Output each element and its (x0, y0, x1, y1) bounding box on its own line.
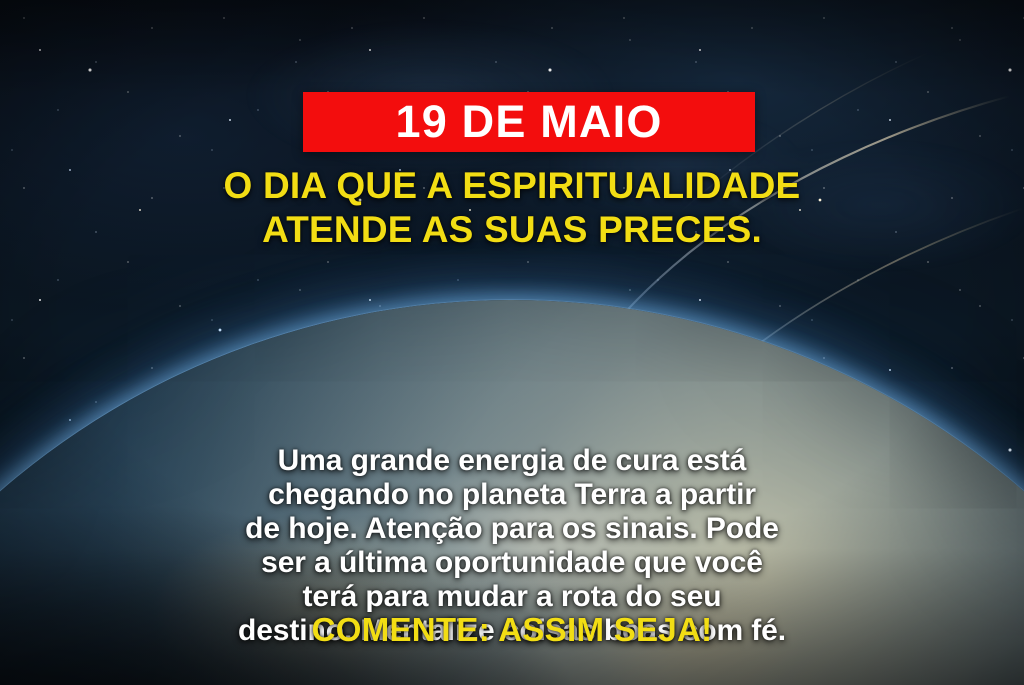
body-line-2: chegando no planeta Terra a partir (46, 478, 978, 512)
poster-canvas: 19 DE MAIO O DIA QUE A ESPIRITUALIDADE A… (0, 0, 1024, 685)
poster-content: 19 DE MAIO O DIA QUE A ESPIRITUALIDADE A… (0, 0, 1024, 685)
date-banner-text: 19 DE MAIO (395, 99, 662, 144)
headline-line-2: ATENDE AS SUAS PRECES. (52, 208, 972, 252)
body-line-1: Uma grande energia de cura está (46, 444, 978, 478)
body-line-3: de hoje. Atenção para os sinais. Pode (46, 512, 978, 546)
date-banner: 19 DE MAIO (303, 92, 755, 152)
headline: O DIA QUE A ESPIRITUALIDADE ATENDE AS SU… (0, 164, 1024, 253)
body-line-5: terá para mudar a rota do seu (46, 580, 978, 614)
body-line-4: ser a última oportunidade que você (46, 546, 978, 580)
headline-line-1: O DIA QUE A ESPIRITUALIDADE (52, 164, 972, 208)
call-to-action-text: COMENTE: ASSIM SEJA! (0, 613, 1024, 646)
